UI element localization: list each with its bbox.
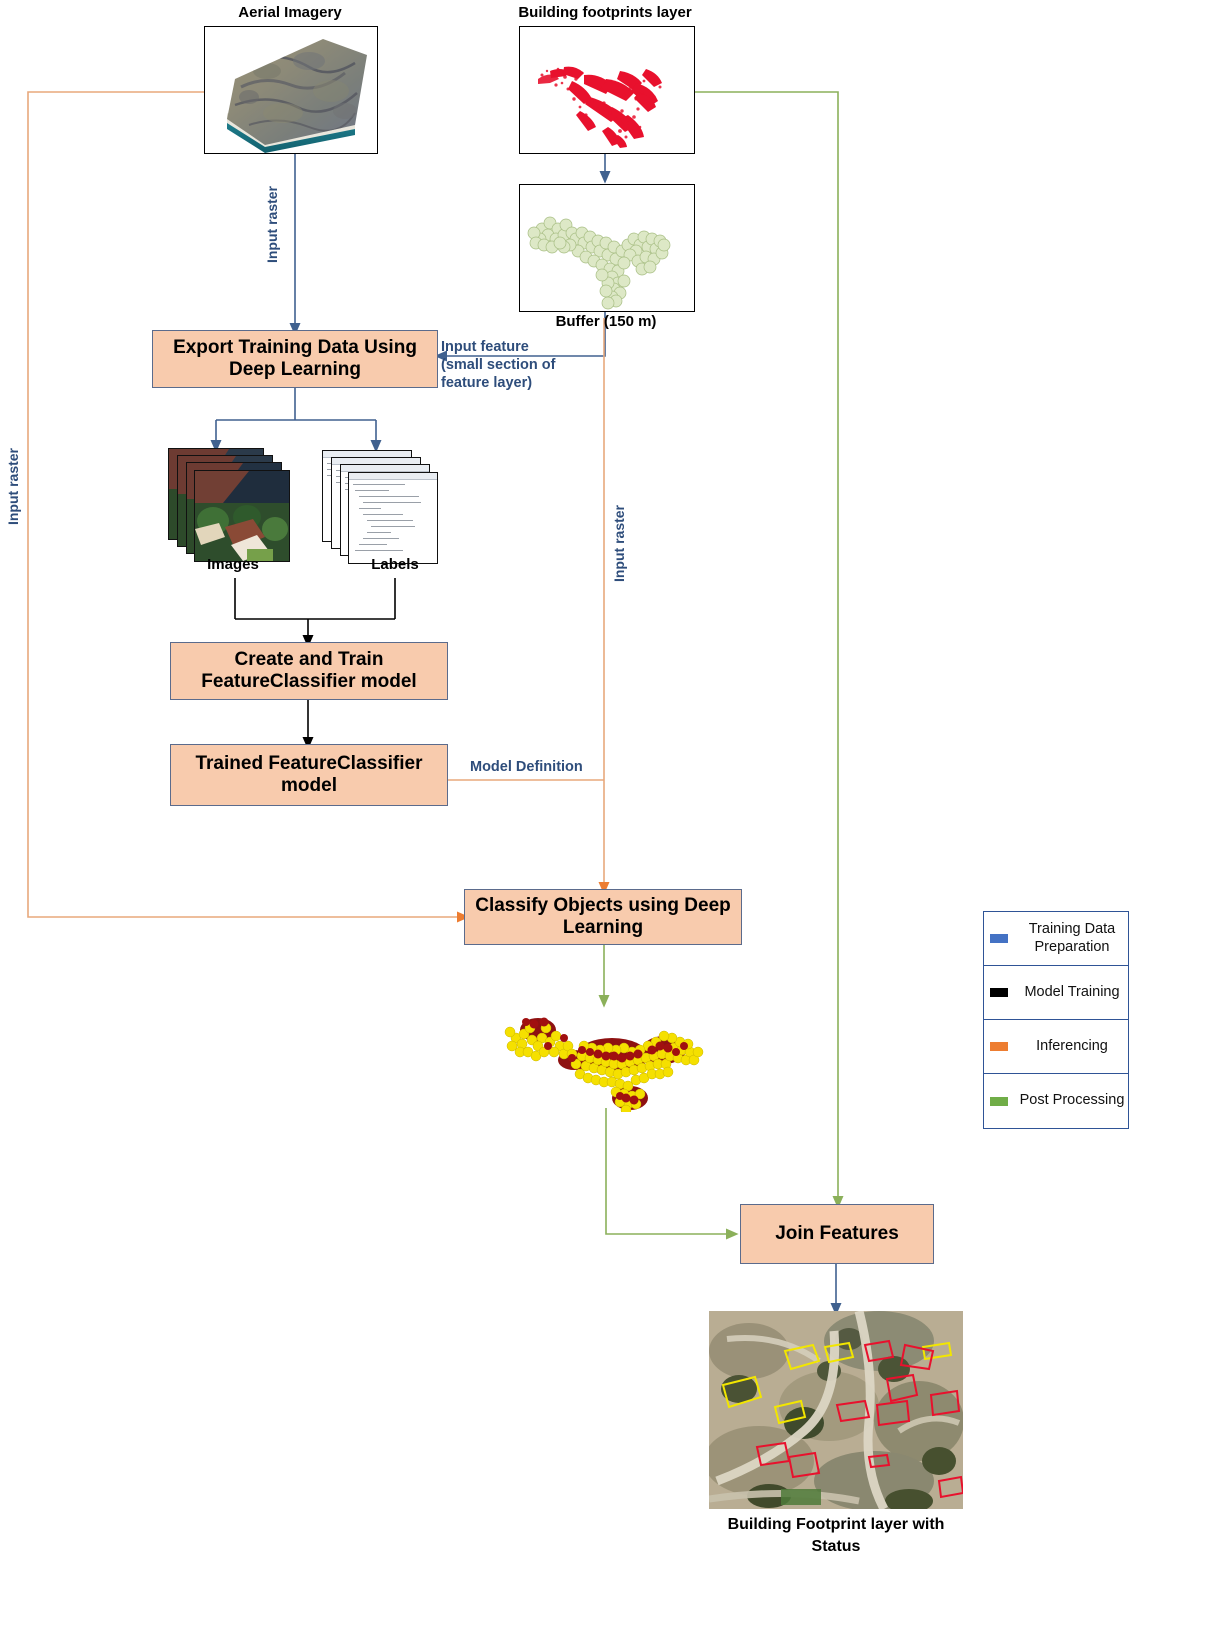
trained-model-box[interactable]: Trained FeatureClassifier model: [170, 744, 448, 806]
image-sheet-1: [194, 470, 290, 562]
input-feature-label-line1: Input feature: [441, 338, 591, 356]
legend-label-training-data-preparation: Training Data Preparation: [1016, 921, 1128, 956]
legend-item-model-training: Model Training: [984, 966, 1128, 1020]
input-feature-label: Input feature (small section of feature …: [441, 338, 591, 392]
buffer-caption: Buffer (150 m): [496, 313, 716, 330]
classify-objects-box[interactable]: Classify Objects using Deep Learning: [464, 889, 742, 945]
legend-item-post-processing: Post Processing: [984, 1074, 1128, 1128]
final-output-caption: Building Footprint layer with Status: [709, 1514, 963, 1559]
legend: Training Data Preparation Model Training…: [983, 911, 1129, 1129]
model-definition-label: Model Definition: [470, 758, 630, 776]
buffer-thumbnail: [519, 184, 695, 312]
images-stack: [168, 448, 288, 560]
legend-item-training-data-preparation: Training Data Preparation: [984, 912, 1128, 966]
workflow-diagram: Aerial Imagery: [0, 0, 1230, 1626]
legend-swatch-post-processing: [990, 1097, 1008, 1106]
final-output-thumbnail: [709, 1311, 963, 1509]
aerial-imagery-thumbnail: [204, 26, 378, 154]
input-feature-label-line2: (small section of: [441, 356, 591, 374]
input-raster-label-top: Input raster: [264, 186, 280, 263]
building-footprints-thumbnail: [519, 26, 695, 154]
join-features-box[interactable]: Join Features: [740, 1204, 934, 1264]
legend-swatch-model-training: [990, 988, 1008, 997]
labels-stack: [322, 450, 440, 562]
create-train-model-box[interactable]: Create and Train FeatureClassifier model: [170, 642, 448, 700]
label-sheet-1: [348, 472, 438, 564]
legend-swatch-training-data-preparation: [990, 934, 1008, 943]
input-feature-label-line3: feature layer): [441, 374, 591, 392]
legend-item-inferencing: Inferencing: [984, 1020, 1128, 1074]
legend-label-inferencing: Inferencing: [1016, 1038, 1128, 1056]
building-footprints-caption: Building footprints layer: [490, 4, 720, 21]
export-training-data-box[interactable]: Export Training Data Using Deep Learning: [152, 330, 438, 388]
input-raster-label-middle: Input raster: [611, 505, 627, 582]
classified-output-thumbnail: [502, 1008, 708, 1112]
legend-swatch-inferencing: [990, 1042, 1008, 1051]
labels-caption: Labels: [330, 556, 460, 573]
aerial-imagery-caption: Aerial Imagery: [195, 4, 385, 21]
input-raster-label-left: Input raster: [5, 448, 21, 525]
legend-label-post-processing: Post Processing: [1016, 1092, 1128, 1110]
legend-label-model-training: Model Training: [1016, 984, 1128, 1002]
images-caption: Images: [168, 556, 298, 573]
